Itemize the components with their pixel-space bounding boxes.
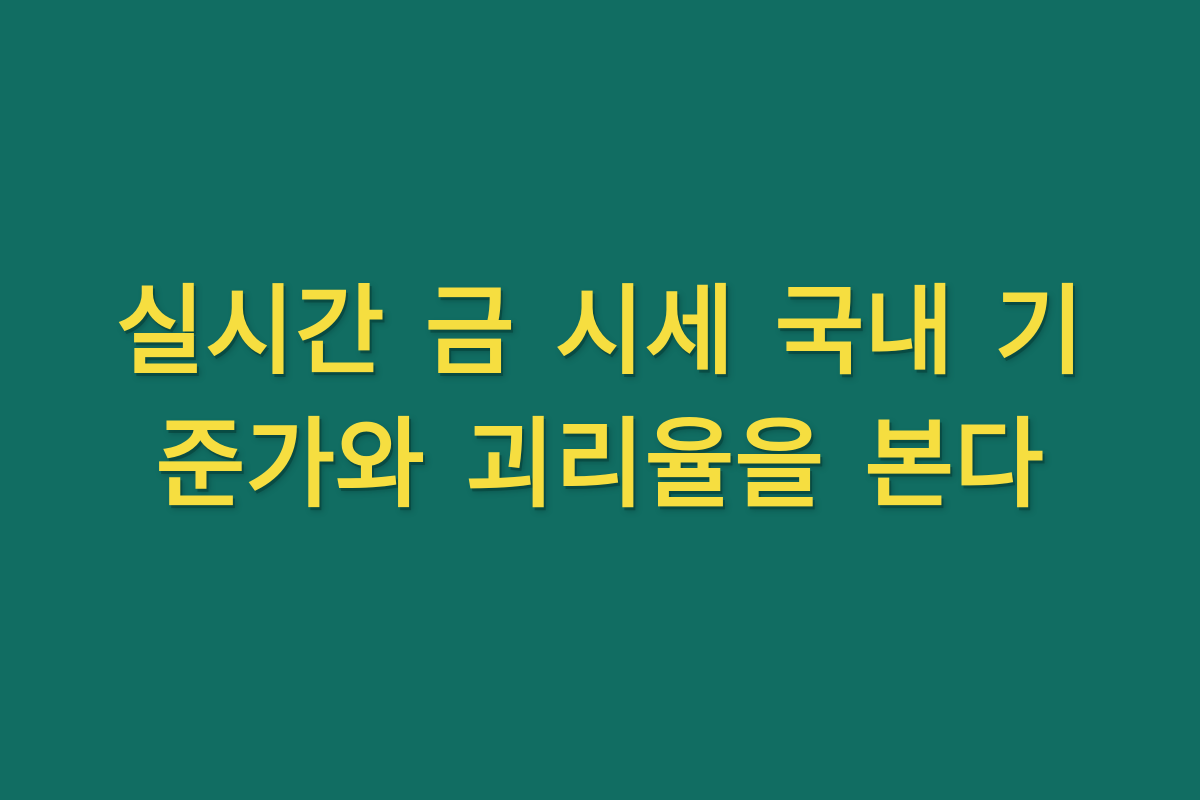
headline-line-1: 실시간 금 시세 국내 기 — [100, 265, 1100, 398]
banner-canvas: 실시간 금 시세 국내 기 준가와 괴리율을 본다 — [0, 0, 1200, 800]
headline-line-2: 준가와 괴리율을 본다 — [100, 398, 1100, 531]
banner-headline: 실시간 금 시세 국내 기 준가와 괴리율을 본다 — [100, 265, 1100, 531]
